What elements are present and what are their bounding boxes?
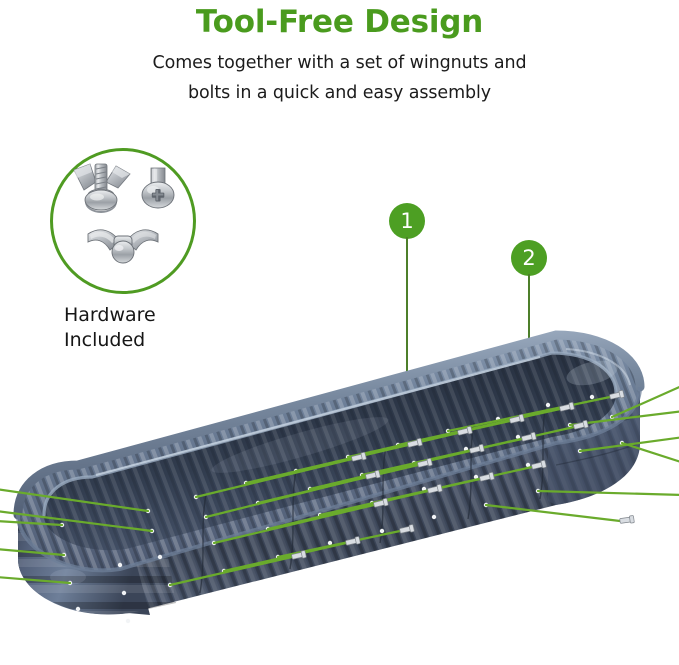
page-title: Tool-Free Design (0, 0, 679, 41)
callout-badge-2[interactable]: 2 (511, 240, 547, 276)
page-subtitle: Comes together with a set of wingnuts an… (0, 41, 679, 108)
wingnut-on-bolt-icon (74, 164, 130, 213)
subtitle-line-1: Comes together with a set of wingnuts an… (0, 48, 679, 78)
hardware-icons-group (50, 148, 196, 294)
planter-body (0, 325, 679, 665)
infographic-header: Tool-Free Design Comes together with a s… (0, 0, 679, 108)
hardware-included-badge (50, 148, 196, 294)
product-illustration-raised-garden-bed (0, 325, 679, 665)
callout-badge-1[interactable]: 1 (389, 203, 425, 239)
callout-number-2: 2 (511, 240, 547, 276)
wingnut-icon (88, 230, 158, 263)
callout-number-1: 1 (389, 203, 425, 239)
phillips-bolt-icon (142, 168, 174, 208)
subtitle-line-2: bolts in a quick and easy assembly (0, 78, 679, 108)
